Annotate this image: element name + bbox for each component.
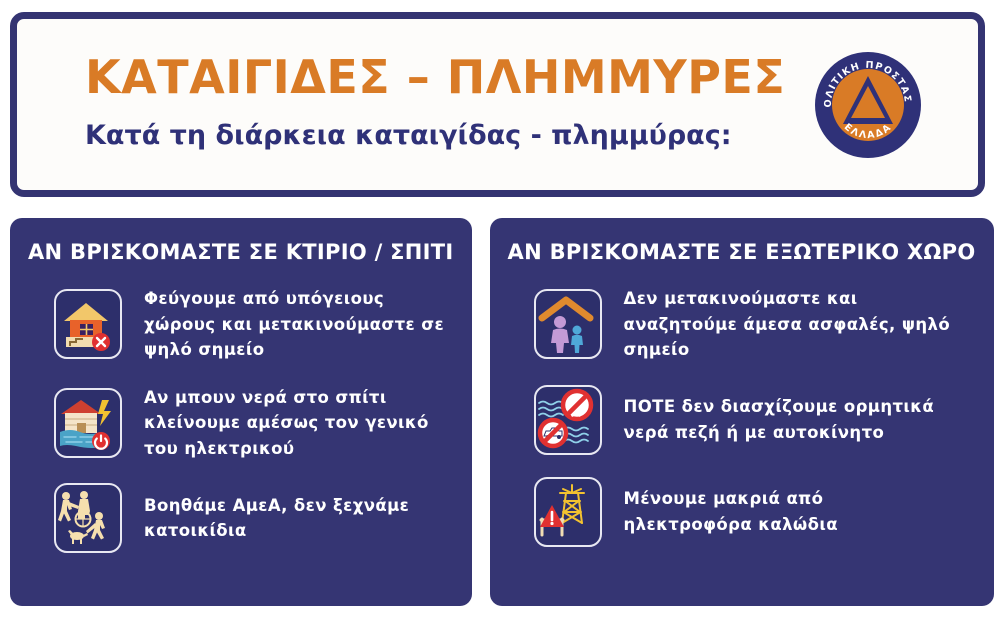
panel-title-indoors: ΑΝ ΒΡΙΣΚΟΜΑΣΤΕ ΣΕ ΚΤΙΡΙΟ / ΣΠΙΤΙ — [28, 240, 454, 264]
list-item-text: Βοηθάμε ΑμεΑ, δεν ξεχνάμε κατοικίδια — [144, 493, 454, 544]
house-basement-no-icon — [54, 289, 122, 359]
logo-container: ΠΟΛΙΤΙΚΗ ΠΡΟΣΤΑΣΙΑ ΕΛΛΑΔΑ — [813, 50, 978, 160]
infographic-poster: ΚΑΤΑΙΓΙΔΕΣ – ΠΛΗΜΜΥΡΕΣ Κατά τη διάρκεια … — [0, 0, 1000, 623]
page-title: ΚΑΤΑΙΓΙΔΕΣ – ΠΛΗΜΜΥΡΕΣ — [85, 53, 813, 101]
no-crossing-floodwater-icon — [534, 385, 602, 455]
list-item-text: Αν μπουν νερά στο σπίτι κλείνουμε αμέσως… — [144, 385, 454, 462]
panel-outdoors: ΑΝ ΒΡΙΣΚΟΜΑΣΤΕ ΣΕ ΕΞΩΤΕΡΙΚΟ ΧΩΡΟ — [490, 218, 994, 606]
list-item-text: Δεν μετακινούμαστε και αναζητούμε άμεσα … — [624, 286, 954, 363]
rows-indoors: Φεύγουμε από υπόγειους χώρους και μετακι… — [28, 286, 454, 553]
panel-title-outdoors: ΑΝ ΒΡΙΣΚΟΜΑΣΤΕ ΣΕ ΕΞΩΤΕΡΙΚΟ ΧΩΡΟ — [508, 240, 976, 264]
list-item: Φεύγουμε από υπόγειους χώρους και μετακι… — [54, 286, 454, 363]
panel-indoors: ΑΝ ΒΡΙΣΚΟΜΑΣΤΕ ΣΕ ΚΤΙΡΙΟ / ΣΠΙΤΙ — [10, 218, 472, 606]
list-item: Αν μπουν νερά στο σπίτι κλείνουμε αμέσως… — [54, 385, 454, 462]
rows-outdoors: Δεν μετακινούμαστε και αναζητούμε άμεσα … — [508, 286, 976, 547]
panels-container: ΑΝ ΒΡΙΣΚΟΜΑΣΤΕ ΣΕ ΚΤΙΡΙΟ / ΣΠΙΤΙ — [10, 218, 985, 606]
list-item-text: Φεύγουμε από υπόγειους χώρους και μετακι… — [144, 286, 454, 363]
list-item-text: ΠΟΤΕ δεν διασχίζουμε ορμητικά νερά πεζή … — [624, 394, 954, 445]
flooded-house-power-off-icon — [54, 388, 122, 458]
power-lines-hazard-icon — [534, 477, 602, 547]
page-subtitle: Κατά τη διάρκεια καταιγίδας - πλημμύρας: — [85, 121, 813, 151]
header-banner: ΚΑΤΑΙΓΙΔΕΣ – ΠΛΗΜΜΥΡΕΣ Κατά τη διάρκεια … — [10, 12, 985, 197]
assist-disabled-and-pets-icon — [54, 483, 122, 553]
list-item: Μένουμε μακριά από ηλεκτροφόρα καλώδια — [534, 477, 976, 547]
list-item: Δεν μετακινούμαστε και αναζητούμε άμεσα … — [534, 286, 976, 363]
shelter-family-icon — [534, 289, 602, 359]
list-item: Βοηθάμε ΑμεΑ, δεν ξεχνάμε κατοικίδια — [54, 483, 454, 553]
list-item: ΠΟΤΕ δεν διασχίζουμε ορμητικά νερά πεζή … — [534, 385, 976, 455]
header-text-block: ΚΑΤΑΙΓΙΔΕΣ – ΠΛΗΜΜΥΡΕΣ Κατά τη διάρκεια … — [17, 53, 813, 157]
civil-protection-greece-logo: ΠΟΛΙΤΙΚΗ ΠΡΟΣΤΑΣΙΑ ΕΛΛΑΔΑ — [813, 50, 923, 160]
list-item-text: Μένουμε μακριά από ηλεκτροφόρα καλώδια — [624, 486, 954, 537]
